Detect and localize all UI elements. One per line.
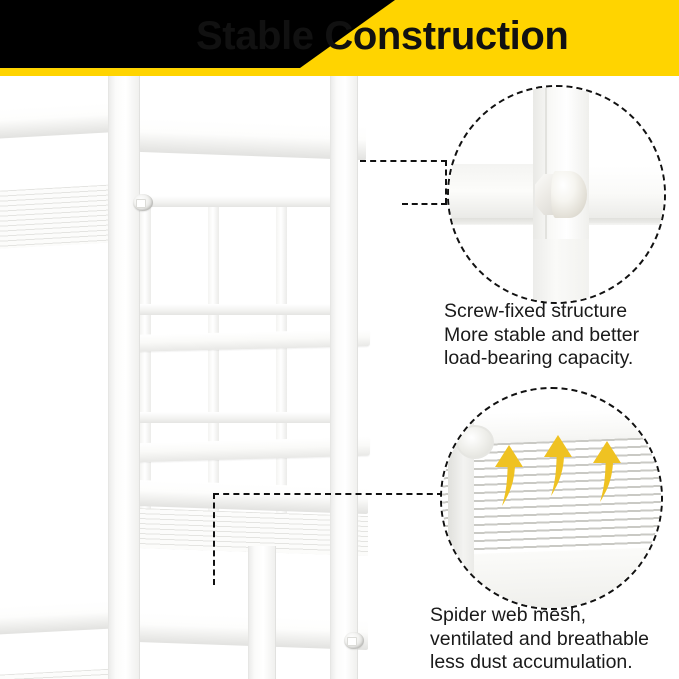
leader-segment: [402, 203, 447, 205]
callout-circle-screw-joint: [447, 85, 666, 304]
joint-post-lower: [533, 239, 589, 304]
callout-screw-joint-image: [449, 87, 664, 302]
cap-nut-dome: [551, 171, 587, 218]
screw-head-lower: [344, 632, 364, 649]
vertical-post-front: [248, 546, 276, 679]
lattice-horizontal-bar: [140, 412, 354, 423]
lattice-vertical-bar: [140, 196, 151, 526]
joint-arm-left: [447, 164, 538, 224]
leader-segment: [360, 160, 447, 162]
caption-screw-joint: Screw-fixed structure More stable and be…: [444, 300, 679, 371]
lattice-horizontal-bar: [140, 304, 354, 315]
leader-segment: [213, 493, 443, 495]
caption-mesh: Spider web mesh, ventilated and breathab…: [430, 604, 679, 675]
lattice-grid-panel: [140, 196, 354, 526]
vertical-post-left: [108, 76, 140, 679]
shelf-clip-icon: [456, 425, 494, 459]
page-title: Stable Construction: [196, 9, 666, 65]
header-banner: Stable Construction: [0, 0, 679, 76]
lattice-vertical-bar: [276, 196, 287, 526]
airflow-arrow-up-icon: [543, 435, 573, 497]
callout-mesh-image: [442, 389, 661, 608]
airflow-arrow-up-icon: [592, 441, 622, 503]
lattice-vertical-bar: [208, 196, 219, 526]
shelf-rail-top-left: [0, 102, 120, 140]
airflow-arrow-up-icon: [494, 445, 524, 507]
leader-segment: [213, 493, 215, 585]
cap-nut-icon: [535, 171, 585, 218]
vertical-post-right: [330, 76, 358, 679]
callout-circle-mesh: [440, 387, 663, 610]
screw-head-upper: [133, 194, 153, 211]
product-feature-image: Stable Construction: [0, 0, 679, 679]
shelf-rail-low-left: [0, 600, 122, 636]
lattice-horizontal-bar: [140, 196, 354, 207]
banner-underline-strip: [0, 68, 679, 76]
product-photo: [0, 76, 440, 679]
